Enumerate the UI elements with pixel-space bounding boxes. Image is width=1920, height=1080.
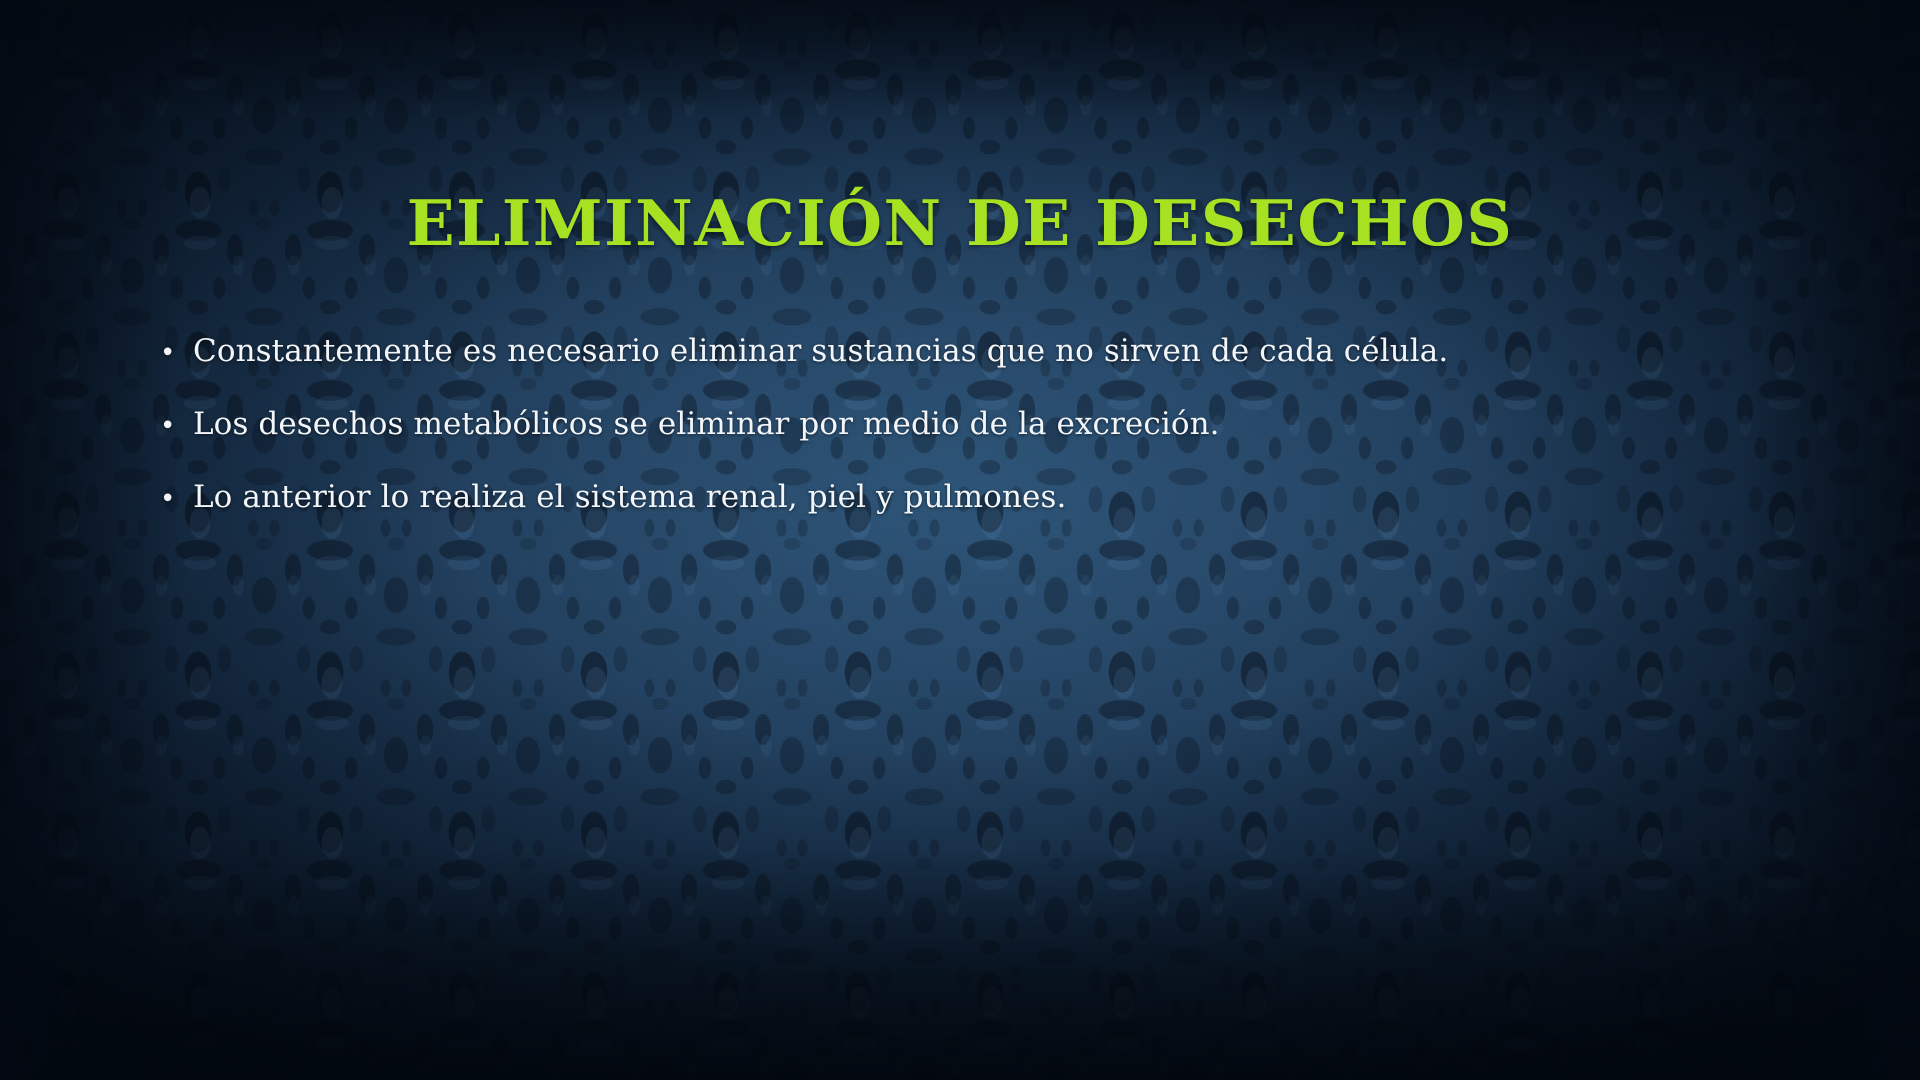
bullet-point-icon: • xyxy=(160,413,193,439)
bullet-item: • Los desechos metabólicos se eliminar p… xyxy=(160,406,1800,443)
bullet-point-icon: • xyxy=(160,486,193,512)
slide-bullet-list: • Constantemente es necesario eliminar s… xyxy=(160,333,1800,517)
presentation-slide: ELIMINACIÓN DE DESECHOS • Constantemente… xyxy=(0,0,1920,1080)
bullet-item: • Constantemente es necesario eliminar s… xyxy=(160,333,1800,370)
bullet-text: Constantemente es necesario eliminar sus… xyxy=(193,333,1800,370)
bullet-point-icon: • xyxy=(160,340,193,366)
bullet-text: Los desechos metabólicos se eliminar por… xyxy=(193,406,1800,443)
bullet-text: Lo anterior lo realiza el sistema renal,… xyxy=(193,479,1800,516)
bullet-item: • Lo anterior lo realiza el sistema rena… xyxy=(160,479,1800,516)
slide-content: ELIMINACIÓN DE DESECHOS • Constantemente… xyxy=(0,0,1920,1080)
slide-title: ELIMINACIÓN DE DESECHOS xyxy=(0,192,1920,255)
